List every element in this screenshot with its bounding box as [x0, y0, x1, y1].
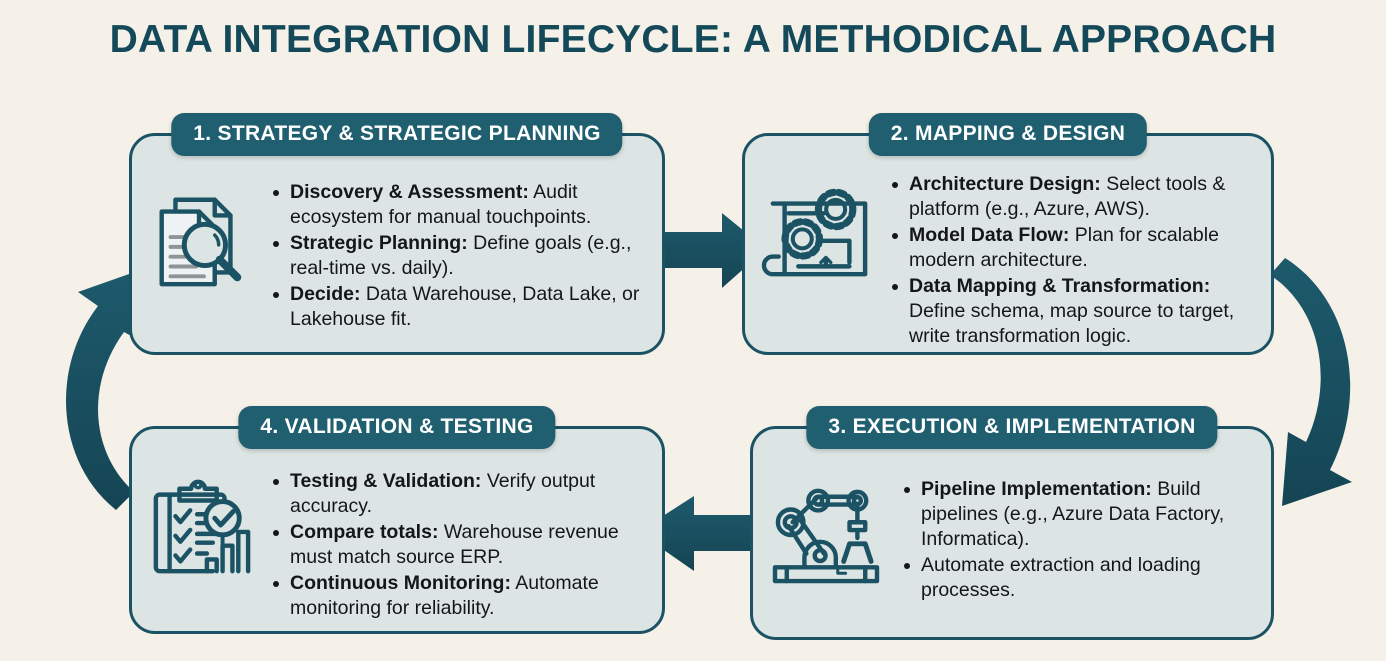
- list-item: Automate extraction and loading processe…: [901, 553, 1253, 603]
- bullet-text: Automate extraction and loading processe…: [921, 554, 1201, 601]
- card-body-1: Discovery & Assessment: Audit ecosystem …: [132, 180, 662, 333]
- card-header-4: 4. Validation & Testing: [238, 406, 555, 449]
- arrow-step2-to-step3: [1270, 258, 1352, 506]
- page-title: Data Integration Lifecycle: A Methodical…: [0, 18, 1386, 62]
- list-item: Discovery & Assessment: Audit ecosystem …: [270, 180, 644, 230]
- card-mapping-design[interactable]: 2. Mapping & Design: [742, 133, 1274, 355]
- bullet-lead: Decide:: [290, 283, 360, 305]
- robot-arm-icon: [767, 477, 897, 590]
- card-execution-implementation[interactable]: 3. Execution & Implementation: [750, 426, 1274, 640]
- bullet-lead: Strategic Planning:: [290, 232, 468, 254]
- clipboard-checklist-chart-icon: [146, 469, 266, 586]
- infographic-canvas: Data Integration Lifecycle: A Methodical…: [0, 0, 1386, 661]
- bullet-list-2: Architecture Design: Select tools & plat…: [885, 172, 1253, 350]
- list-item: Compare totals: Warehouse revenue must m…: [270, 520, 644, 570]
- bullet-lead: Continuous Monitoring:: [290, 572, 511, 594]
- bullet-lead: Architecture Design:: [909, 173, 1101, 195]
- card-body-2: Architecture Design: Select tools & plat…: [745, 172, 1271, 350]
- bullet-text: Define schema, map source to target, wri…: [909, 300, 1234, 347]
- card-strategy-planning[interactable]: 1. Strategy & Strategic Planning: [129, 133, 665, 355]
- bullet-list-4: Testing & Validation: Verify output accu…: [266, 469, 644, 622]
- document-magnifier-icon: [146, 180, 266, 299]
- list-item: Decide: Data Warehouse, Data Lake, or La…: [270, 282, 644, 332]
- list-item: Model Data Flow: Plan for scalable moder…: [889, 223, 1253, 273]
- list-item: Pipeline Implementation: Build pipelines…: [901, 477, 1253, 552]
- card-validation-testing[interactable]: 4. Validation & Testing: [129, 426, 665, 634]
- list-item: Continuous Monitoring: Automate monitori…: [270, 571, 644, 621]
- list-item: Strategic Planning: Define goals (e.g., …: [270, 231, 644, 281]
- list-item: Testing & Validation: Verify output accu…: [270, 469, 644, 519]
- card-body-4: Testing & Validation: Verify output accu…: [132, 469, 662, 622]
- bullet-lead: Testing & Validation:: [290, 470, 481, 492]
- bullet-lead: Data Mapping & Transformation:: [909, 275, 1210, 297]
- bullet-lead: Model Data Flow:: [909, 224, 1069, 246]
- card-body-3: Pipeline Implementation: Build pipelines…: [753, 477, 1271, 604]
- card-header-1: 1. Strategy & Strategic Planning: [171, 113, 622, 156]
- blueprint-gears-icon: [759, 172, 885, 291]
- bullet-lead: Pipeline Implementation:: [921, 478, 1152, 500]
- card-header-3: 3. Execution & Implementation: [806, 406, 1217, 449]
- bullet-lead: Discovery & Assessment:: [290, 181, 529, 203]
- list-item: Data Mapping & Transformation: Define sc…: [889, 274, 1253, 349]
- bullet-lead: Compare totals:: [290, 521, 438, 543]
- bullet-list-1: Discovery & Assessment: Audit ecosystem …: [266, 180, 644, 333]
- card-header-2: 2. Mapping & Design: [869, 113, 1147, 156]
- list-item: Architecture Design: Select tools & plat…: [889, 172, 1253, 222]
- bullet-list-3: Pipeline Implementation: Build pipelines…: [897, 477, 1253, 604]
